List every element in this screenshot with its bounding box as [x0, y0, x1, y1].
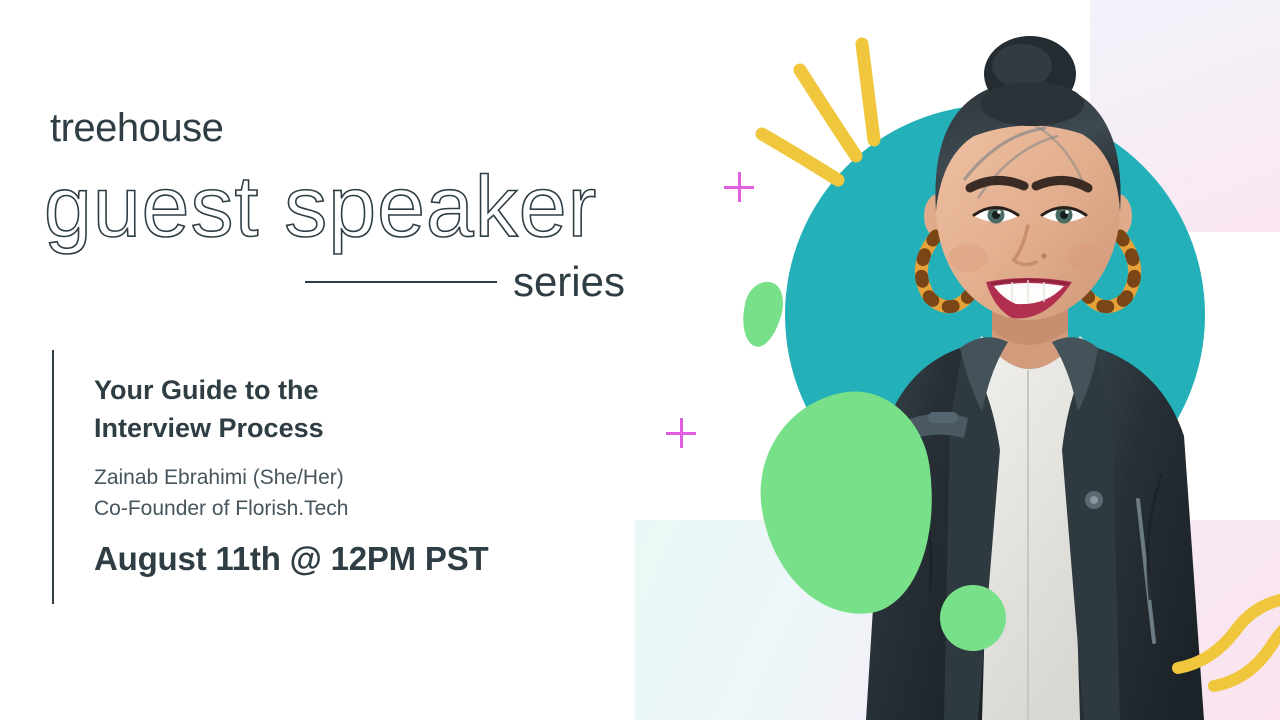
- series-row: series: [305, 258, 625, 306]
- bottom-center-gradient-panel: [635, 520, 1095, 720]
- brand-wordmark: treehouse: [50, 108, 223, 148]
- magenta-plus-icon: [724, 172, 754, 202]
- magenta-plus-icon: [666, 418, 696, 448]
- yellow-burst-rays: [740, 30, 910, 200]
- event-details-block: Your Guide to the Interview Process Zain…: [52, 350, 612, 604]
- headline-outline-text: guest speaker: [44, 160, 597, 255]
- series-label: series: [513, 261, 625, 303]
- top-right-gradient-panel: [1090, 0, 1280, 232]
- guest-speaker-promo-slide: treehouse guest speaker series Your Guid…: [0, 0, 1280, 720]
- event-date-time: August 11th @ 12PM PST: [94, 541, 612, 577]
- green-bean-shape: [736, 277, 789, 350]
- talk-title: Your Guide to the Interview Process: [94, 372, 424, 448]
- speaker-role: Co-Founder of Florish.Tech: [94, 493, 612, 525]
- series-divider-rule: [305, 281, 497, 283]
- text-column: treehouse guest speaker series Your Guid…: [0, 0, 660, 720]
- speaker-name: Zainab Ebrahimi (She/Her): [94, 462, 612, 494]
- bottom-right-gradient-panel: [1095, 520, 1280, 720]
